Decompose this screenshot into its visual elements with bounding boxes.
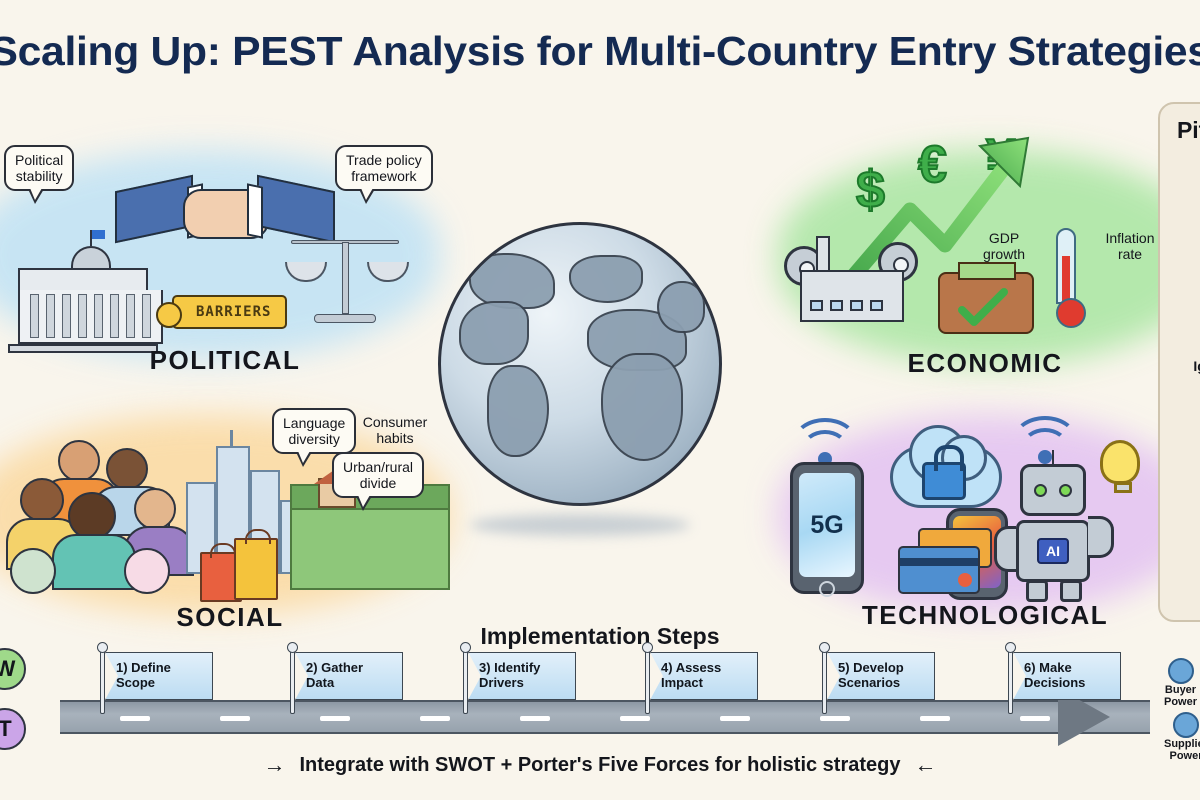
world-globe-icon (430, 222, 730, 542)
swot-badge-letter: W (0, 648, 26, 690)
barriers-tag-icon: BARRIERS (172, 295, 287, 329)
callout-language-diversity: Language diversity (272, 408, 356, 454)
footer-text: Integrate with SWOT + Porter's Five Forc… (299, 754, 900, 777)
swot-badge-weaknesses[interactable]: W (0, 648, 26, 690)
step-flag-label: 6) Make Decisions (1013, 652, 1121, 700)
panel-title: Pitfalls to Avoid (1172, 118, 1200, 143)
panel-item-label: Cost blindspots (1172, 435, 1200, 451)
footer-left-arrow-icon: → (263, 752, 285, 778)
infographic-canvas: Scaling Up: PEST Analysis for Multi-Coun… (0, 0, 1200, 800)
quadrant-economic: $ € ¥ GDP growth I (770, 120, 1200, 380)
panel-item-label: Overgeneralizing (1172, 204, 1200, 220)
lock-icon (922, 462, 966, 500)
panel-item-cost-blindspots[interactable]: Cost blindspots (1172, 390, 1200, 451)
step-flag-label: 2) Gather Data (295, 652, 403, 700)
smartphone-5g-icon: 5G (790, 462, 864, 594)
phone-screen-label: 5G (799, 473, 855, 577)
porter-buyer-power: Buyer Power (1164, 658, 1197, 708)
panel-item-label: Static analysis (1172, 281, 1200, 297)
quadrant-label-political: POLITICAL (0, 345, 450, 376)
wifi-icon (792, 418, 862, 458)
callout-urban-rural-divide: Urban/rural divide (332, 452, 424, 498)
panel-item-label: Ignoring interactions (1172, 358, 1200, 374)
payment-card-icon (890, 512, 1010, 602)
swot-badge-threats[interactable]: T (0, 708, 26, 750)
step-flag-label: 5) Develop Scenarios (827, 652, 935, 700)
panel-item-overgeneralizing[interactable]: Overgeneralizing (1172, 159, 1200, 220)
pitfalls-panel: Pitfalls to Avoid Overgeneralizing Stati… (1158, 102, 1200, 622)
quadrant-social: Language diversity Consumer habits Urban… (0, 400, 460, 635)
callout-political-stability: Political stability (4, 145, 74, 191)
footer-bar: → Integrate with SWOT + Porter's Five Fo… (0, 752, 1200, 778)
swot-badge-letter: T (0, 708, 26, 750)
thermometer-icon (1056, 228, 1076, 304)
lightbulb-icon (1100, 440, 1140, 484)
government-building-icon (18, 230, 163, 353)
person-icon (1168, 658, 1194, 684)
callout-trade-policy: Trade policy framework (335, 145, 433, 191)
panel-item-ignoring-interactions[interactable]: Ignoring interactions (1172, 313, 1200, 374)
footer-right-arrow-icon: ← (915, 752, 937, 778)
page-title-bar: Scaling Up: PEST Analysis for Multi-Coun… (0, 22, 1200, 80)
wallet-icon (938, 272, 1034, 334)
person-icon (1173, 712, 1199, 738)
ai-chip-label: AI (1037, 538, 1069, 564)
quadrant-technological: 5G AI (770, 400, 1200, 635)
step-flag-label: 4) Assess Impact (650, 652, 758, 700)
porter-label: Buyer Power (1164, 684, 1197, 708)
scales-of-justice-icon (285, 240, 405, 335)
panel-item-static-analysis[interactable]: Static analysis (1172, 236, 1200, 297)
step-flag-label: 1) Define Scope (105, 652, 213, 700)
callout-gdp-growth: GDP growth (966, 230, 1042, 262)
wifi-icon (1012, 416, 1082, 456)
quadrant-political: BARRIERS Political stability Trade polic… (0, 130, 450, 380)
page-title: Scaling Up: PEST Analysis for Multi-Coun… (0, 28, 1200, 75)
step-flag-label: 3) Identify Drivers (468, 652, 576, 700)
quadrant-label-economic: ECONOMIC (770, 348, 1200, 379)
factory-icon (800, 270, 904, 322)
road-graphic (60, 700, 1150, 734)
implementation-steps-heading: Implementation Steps (0, 623, 1200, 650)
callout-consumer-habits: Consumer habits (350, 414, 440, 446)
diverse-people-icon (6, 430, 196, 600)
